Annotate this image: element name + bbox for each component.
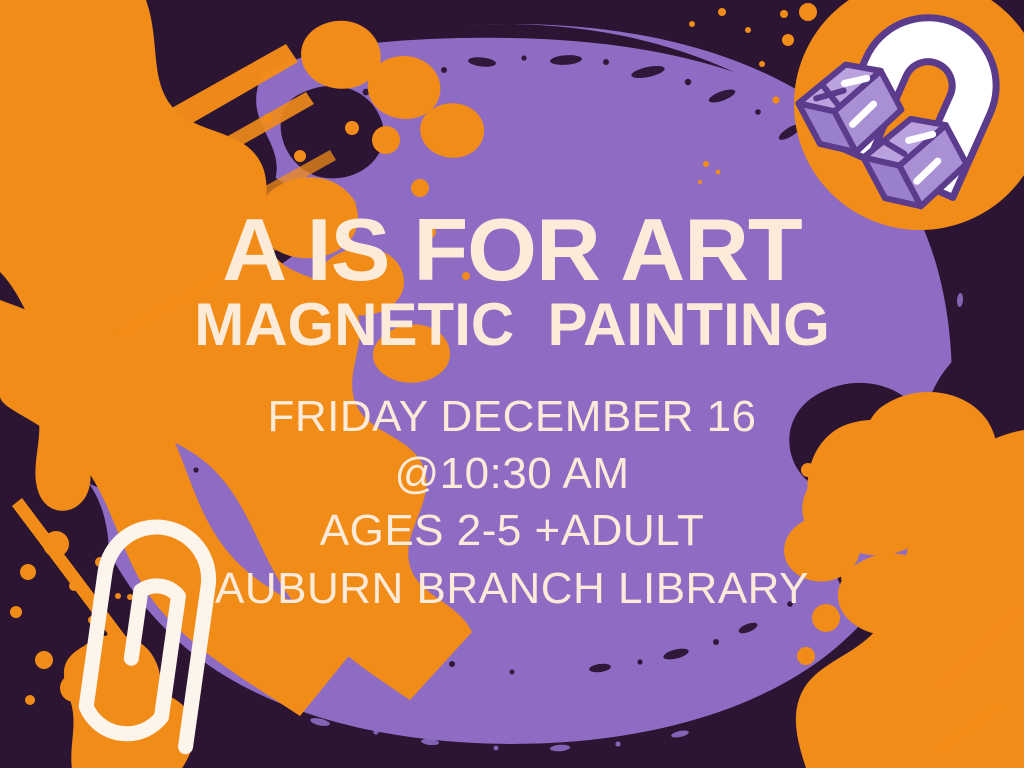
paperclip-icon xyxy=(83,520,216,746)
poster-canvas: A IS FOR ART MAGNETIC PAINTING FRIDAY DE… xyxy=(0,0,1024,768)
paperclip-illustration xyxy=(0,0,1024,768)
